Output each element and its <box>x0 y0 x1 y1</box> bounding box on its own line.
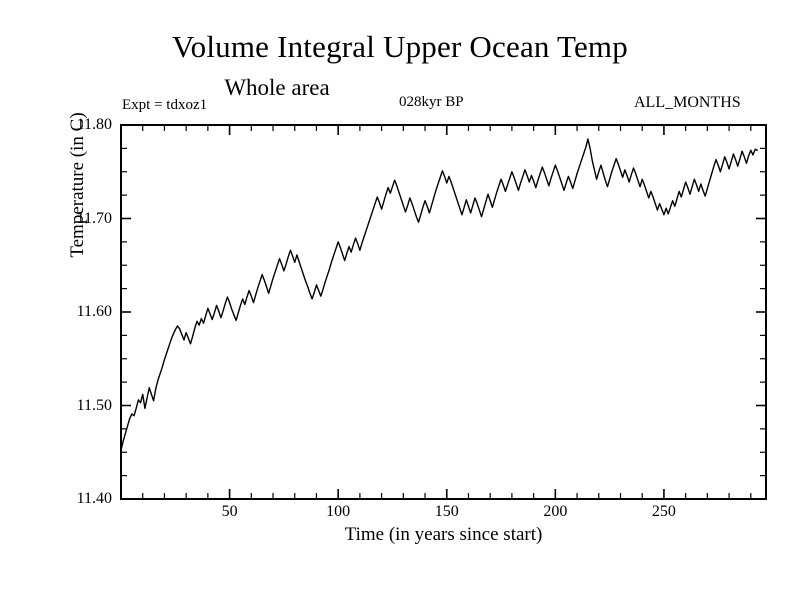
x-tick-label: 200 <box>525 503 585 521</box>
data-series <box>121 139 757 450</box>
x-tick-label: 150 <box>417 503 477 521</box>
y-tick-label: 11.40 <box>48 490 112 508</box>
axis-ticks <box>121 125 766 499</box>
x-tick-label: 250 <box>634 503 694 521</box>
y-axis-title-text: Temperature (in C) <box>67 112 88 257</box>
x-tick-label: 50 <box>200 503 260 521</box>
y-tick-label: 11.80 <box>48 116 112 134</box>
y-tick-label: 11.50 <box>48 397 112 415</box>
y-axis-title: Temperature (in C) <box>67 45 97 325</box>
y-tick-label: 11.70 <box>48 210 112 228</box>
chart-page: Volume Integral Upper Ocean Temp Whole a… <box>0 0 800 600</box>
x-axis-title: Time (in years since start) <box>120 524 767 546</box>
y-tick-label: 11.60 <box>48 303 112 321</box>
x-tick-label: 100 <box>308 503 368 521</box>
series-line <box>121 139 757 450</box>
